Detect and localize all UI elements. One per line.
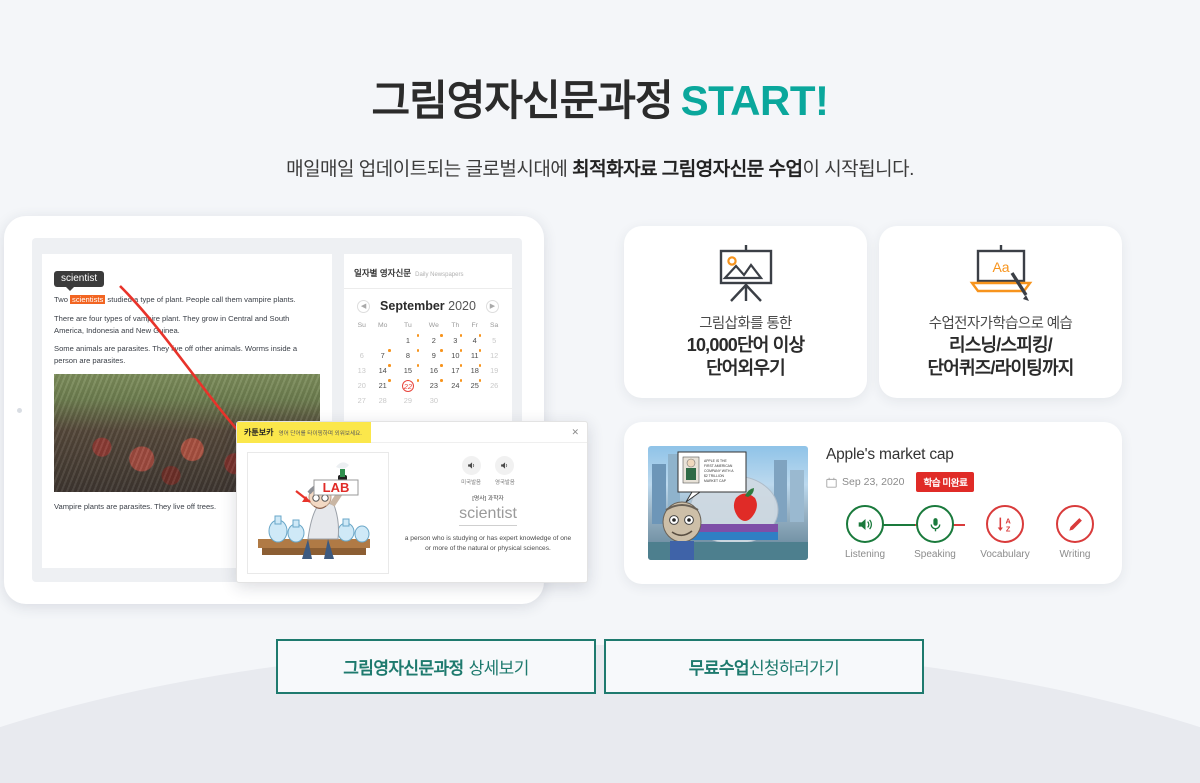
calendar-day-cell[interactable]: 16 (422, 363, 446, 378)
feature-2-line-1: 수업전자가학습으로 예습 (927, 315, 1073, 334)
feature-1-line-1: 그림삽화를 통한 (687, 315, 805, 334)
calendar-weekday-row: SuMoTuWeThFrSa (352, 322, 504, 333)
cta-1-bold: 그림영자신문과정 (343, 654, 463, 679)
calendar-weekday: Mo (372, 322, 394, 333)
cartoon-illustration: LAB (247, 452, 389, 574)
calendar-weekday: Fr (465, 322, 484, 333)
calendar-day-cell[interactable]: 13 (352, 363, 372, 378)
calendar-day-cell[interactable]: 14 (372, 363, 394, 378)
calendar-nav: ◀ September 2020 ▶ (352, 299, 504, 313)
calendar-day-cell[interactable]: 24 (446, 378, 465, 393)
feature-card-2-text: 수업전자가학습으로 예습 리스닝/스피킹/ 단어퀴즈/라이팅까지 (927, 315, 1073, 381)
lesson-steps: Listening Speaking AZ Vocabulary (826, 505, 1114, 560)
calendar-day-cell[interactable]: 9 (422, 348, 446, 363)
calendar-day-dot (388, 364, 391, 367)
cta-2-bold: 무료수업 (689, 654, 749, 679)
svg-text:APPLE IS THE: APPLE IS THE (704, 459, 727, 463)
close-icon[interactable]: ✕ (571, 427, 579, 438)
calendar-day-dot (417, 334, 420, 337)
svg-text:MARKET CAP: MARKET CAP (704, 479, 727, 483)
dictionary-definition: a person who is studying or has expert k… (399, 534, 577, 554)
step-writing-label: Writing (1040, 549, 1110, 560)
calendar-prev-button[interactable]: ◀ (357, 300, 370, 313)
lab-label: LAB (323, 480, 350, 495)
calendar-week-row: 20212223242526 (352, 378, 504, 393)
calendar-day-dot (417, 349, 420, 352)
step-vocabulary[interactable]: AZ Vocabulary (970, 505, 1040, 560)
calendar-weekday: Sa (484, 322, 504, 333)
calendar-week-row: 27282930 (352, 393, 504, 408)
svg-text:Z: Z (1005, 524, 1010, 533)
highlighted-word[interactable]: scientists (70, 295, 105, 304)
calendar-day-cell[interactable]: 4 (465, 333, 484, 348)
cta-row: 그림영자신문과정상세보기 무료수업신청하러가기 (0, 639, 1200, 694)
tablet-home-button (17, 408, 22, 413)
calendar-title-en: Daily Newspapers (415, 272, 463, 278)
calendar-day-cell[interactable]: 29 (394, 393, 422, 408)
free-class-apply-button[interactable]: 무료수업신청하러가기 (604, 639, 924, 694)
page-title-start: START! (681, 77, 829, 124)
paragraph-rest: studied a type of plant. People call the… (107, 295, 295, 304)
popup-title: 카툰보카 (244, 427, 273, 438)
calendar-weekday: Tu (394, 322, 422, 333)
lesson-card[interactable]: APPLE IS THE FIRST AMERICAN COMPANY WITH… (624, 422, 1122, 584)
calendar-day-dot (417, 379, 420, 382)
calendar-empty-cell (446, 393, 465, 408)
calendar-day-dot (460, 364, 463, 367)
lesson-title: Apple's market cap (826, 446, 1114, 464)
calendar-icon (826, 477, 837, 488)
part-of-speech: [명사] 과학자 (399, 493, 577, 502)
speaker-icon[interactable] (495, 456, 514, 475)
sort-az-icon[interactable]: AZ (986, 505, 1024, 543)
calendar-week-row: 6789101112 (352, 348, 504, 363)
calendar-day-cell[interactable]: 19 (484, 363, 504, 378)
calendar-week-row: 13141516171819 (352, 363, 504, 378)
calendar-day-cell[interactable]: 11 (465, 348, 484, 363)
feature-card-vocabulary: 그림삽화를 통한 10,000단어 이상 단어외우기 (624, 226, 867, 398)
calendar-day-dot (460, 349, 463, 352)
popup-header-highlight: 카툰보카 영어 단어를 타이핑하며 외워보세요. (237, 422, 371, 443)
calendar-day-cell[interactable]: 23 (422, 378, 446, 393)
header: 그림영자신문과정START! 매일매일 업데이트되는 글로벌시대에 최적화자료 … (0, 0, 1200, 181)
step-speaking[interactable]: Speaking (900, 505, 970, 560)
lesson-details: Apple's market cap Sep 23, 2020 학습 미완료 (826, 446, 1114, 560)
calendar-weekday: We (422, 322, 446, 333)
calendar-body: ◀ September 2020 ▶ SuMoTuWeThFrSa 123456… (344, 289, 512, 418)
paragraph-lead: Two (54, 295, 70, 304)
calendar-empty-cell (465, 393, 484, 408)
calendar-title-kr: 일자별 영자신문 (354, 268, 411, 278)
calendar-day-cell[interactable]: 15 (394, 363, 422, 378)
svg-text:COMPANY WITH A: COMPANY WITH A (704, 469, 734, 473)
svg-text:FIRST AMERICAN: FIRST AMERICAN (704, 464, 733, 468)
feature-2-line-3: 단어퀴즈/라이팅까지 (927, 357, 1073, 380)
picture-easel-icon (713, 243, 779, 305)
lesson-meta: Sep 23, 2020 학습 미완료 (826, 472, 1114, 492)
status-badge: 학습 미완료 (916, 472, 974, 492)
calendar-day-cell[interactable]: 27 (352, 393, 372, 408)
subtitle-post: 이 시작됩니다. (802, 159, 913, 180)
lab-scientist-drawing: LAB (248, 453, 389, 574)
page-title-kr: 그림영자신문과정 (372, 77, 673, 124)
calendar-empty-cell (352, 333, 372, 348)
microphone-icon[interactable] (916, 505, 954, 543)
calendar-day-cell[interactable]: 28 (372, 393, 394, 408)
calendar-month: September (380, 299, 445, 313)
calendar-weekday: Th (446, 322, 465, 333)
pronunciation-uk[interactable]: 영국발음 (495, 456, 515, 486)
calendar-day-dot (460, 379, 463, 382)
calendar-panel-header: 일자별 영자신문Daily Newspapers (344, 254, 512, 289)
calendar-day-dot (440, 364, 443, 367)
calendar-day-cell[interactable]: 30 (422, 393, 446, 408)
calendar-day-cell[interactable]: 18 (465, 363, 484, 378)
pronunciation-row: 미국발음 영국발음 (399, 456, 577, 486)
speaker-icon[interactable] (846, 505, 884, 543)
lesson-date: Sep 23, 2020 (826, 476, 904, 488)
course-detail-button[interactable]: 그림영자신문과정상세보기 (276, 639, 596, 694)
subtitle-pre: 매일매일 업데이트되는 글로벌시대에 (286, 159, 572, 180)
feature-1-line-3: 단어외우기 (687, 357, 805, 380)
step-listening[interactable]: Listening (830, 505, 900, 560)
calendar-week-row: 12345 (352, 333, 504, 348)
calendar-year: 2020 (448, 299, 476, 313)
calendar-day-dot (479, 364, 482, 367)
calendar-day-dot (417, 364, 420, 367)
subtitle-bold: 최적화자료 그림영자신문 수업 (572, 159, 802, 180)
calendar-day-dot (440, 379, 443, 382)
calendar-day-cell[interactable]: 5 (484, 333, 504, 348)
calendar-day-cell[interactable]: 10 (446, 348, 465, 363)
pronunciation-uk-label: 영국발음 (495, 478, 515, 486)
feature-2-line-2: 리스닝/스피킹/ (927, 334, 1073, 357)
cartoon-vocabulary-popup: 카툰보카 영어 단어를 타이핑하며 외워보세요. ✕ (236, 421, 588, 583)
calendar-day-cell[interactable]: 7 (372, 348, 394, 363)
calendar-day-dot (479, 334, 482, 337)
calendar-day-dot (479, 379, 482, 382)
speaker-icon[interactable] (462, 456, 481, 475)
calendar-day-dot (440, 349, 443, 352)
dictionary-word: scientist (459, 505, 517, 526)
svg-text:Aa: Aa (992, 259, 1009, 275)
step-writing[interactable]: Writing (1040, 505, 1110, 560)
calendar-day-dot (388, 379, 391, 382)
calendar-day-cell[interactable]: 22 (394, 378, 422, 393)
feature-1-line-2: 10,000단어 이상 (687, 334, 805, 357)
page-root: 그림영자신문과정START! 매일매일 업데이트되는 글로벌시대에 최적화자료 … (0, 0, 1200, 783)
calendar-day-cell[interactable]: 1 (394, 333, 422, 348)
calendar-next-button[interactable]: ▶ (486, 300, 499, 313)
article-paragraph-3: Some animals are parasites. They live of… (54, 343, 320, 367)
cta-1-light: 상세보기 (469, 654, 529, 679)
calendar-empty-cell (484, 393, 504, 408)
cta-2-light: 신청하러가기 (749, 654, 839, 679)
calendar-day-cell[interactable]: 25 (465, 378, 484, 393)
feature-card-selfstudy: Aa 수업전자가학습으로 예습 리스닝/스피킹/ 단어퀴즈/라이팅까지 (879, 226, 1122, 398)
feature-card-1-text: 그림삽화를 통한 10,000단어 이상 단어외우기 (687, 315, 805, 381)
pencil-icon[interactable] (1056, 505, 1094, 543)
page-title: 그림영자신문과정START! (0, 80, 1200, 122)
popup-body: LAB 미국발음 (237, 443, 587, 583)
calendar-day-cell[interactable]: 12 (484, 348, 504, 363)
article-paragraph-2: There are four types of vampire plant. T… (54, 313, 320, 337)
svg-text:$2 TRILLION: $2 TRILLION (704, 474, 724, 478)
calendar-day-rows: 1234567891011121314151617181920212223242… (352, 333, 504, 408)
page-subtitle: 매일매일 업데이트되는 글로벌시대에 최적화자료 그림영자신문 수업이 시작됩니… (0, 154, 1200, 181)
calendar-day-cell[interactable]: 6 (352, 348, 372, 363)
pronunciation-us-label: 미국발음 (461, 478, 481, 486)
dictionary-entry: 미국발음 영국발음 [명사] 과학자 scientist a person wh… (399, 452, 577, 574)
calendar-grid: SuMoTuWeThFrSa 1234567891011121314151617… (352, 322, 504, 408)
calendar-empty-cell (372, 333, 394, 348)
step-vocabulary-label: Vocabulary (970, 549, 1040, 560)
lesson-date-text: Sep 23, 2020 (842, 476, 904, 488)
calendar-day-cell[interactable]: 17 (446, 363, 465, 378)
calendar-weekday: Su (352, 322, 372, 333)
calendar-day-cell[interactable]: 21 (372, 378, 394, 393)
word-tooltip: scientist (54, 271, 104, 287)
step-listening-label: Listening (830, 549, 900, 560)
calendar-day-cell[interactable]: 26 (484, 378, 504, 393)
step-speaking-label: Speaking (900, 549, 970, 560)
calendar-day-dot (440, 334, 443, 337)
blackboard-pen-icon: Aa (962, 243, 1040, 305)
calendar-day-dot (460, 334, 463, 337)
calendar-day-dot (388, 349, 391, 352)
pronunciation-us[interactable]: 미국발음 (461, 456, 481, 486)
calendar-month-label: September 2020 (380, 299, 476, 313)
calendar-day-dot (479, 349, 482, 352)
article-paragraph-1: Two scientists studied a type of plant. … (54, 294, 320, 306)
calendar-day-cell[interactable]: 2 (422, 333, 446, 348)
lesson-thumbnail: APPLE IS THE FIRST AMERICAN COMPANY WITH… (648, 446, 808, 560)
calendar-day-cell[interactable]: 8 (394, 348, 422, 363)
calendar-day-cell[interactable]: 3 (446, 333, 465, 348)
popup-subtitle: 영어 단어를 타이핑하며 외워보세요. (278, 429, 361, 437)
popup-header: 카툰보카 영어 단어를 타이핑하며 외워보세요. ✕ (237, 422, 587, 443)
calendar-day-cell[interactable]: 20 (352, 378, 372, 393)
